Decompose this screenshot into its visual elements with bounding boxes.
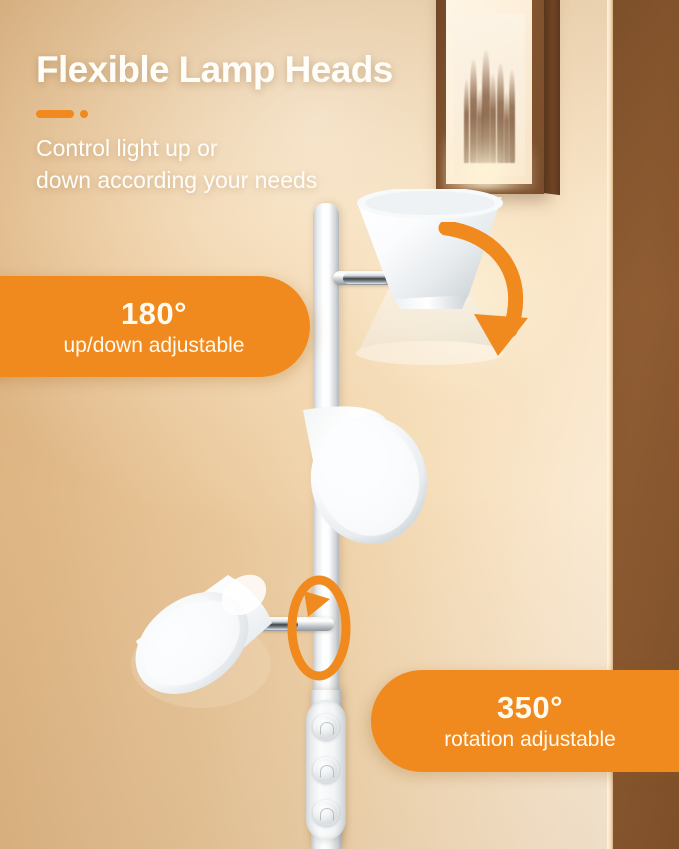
power-button-2[interactable]: [313, 757, 339, 783]
subtitle: Control light up or down according your …: [36, 133, 436, 196]
badge-350-degrees: 350° rotation adjustable: [371, 670, 679, 772]
scene-stage: Flexible Lamp Heads Control light up or …: [0, 0, 679, 849]
frame-side-depth: [542, 0, 560, 195]
divider-dot: [80, 110, 88, 118]
badge-180-degrees: 180° up/down adjustable: [0, 276, 310, 377]
lamp-head-bottom: [132, 557, 292, 705]
badge-350-value: 350°: [497, 690, 583, 726]
badge-180-value: 180°: [93, 296, 187, 332]
lamp-control-panel[interactable]: [306, 700, 346, 840]
arrow-180-icon: [432, 222, 542, 372]
framed-wall-art: [436, 0, 544, 194]
badge-180-label: up/down adjustable: [36, 334, 245, 358]
rotation-ring-350-icon: [274, 573, 364, 683]
page-title: Flexible Lamp Heads: [36, 49, 393, 91]
badge-350-label: rotation adjustable: [444, 728, 636, 752]
subtitle-line-2: down according your needs: [36, 165, 436, 197]
subtitle-line-1: Control light up or: [36, 133, 436, 165]
divider-bar: [36, 110, 74, 118]
title-divider: [36, 110, 92, 118]
power-button-1[interactable]: [313, 714, 339, 740]
power-button-3[interactable]: [313, 800, 339, 826]
lamp-head-middle: [281, 400, 433, 548]
frame-light-glow: [442, 106, 538, 190]
